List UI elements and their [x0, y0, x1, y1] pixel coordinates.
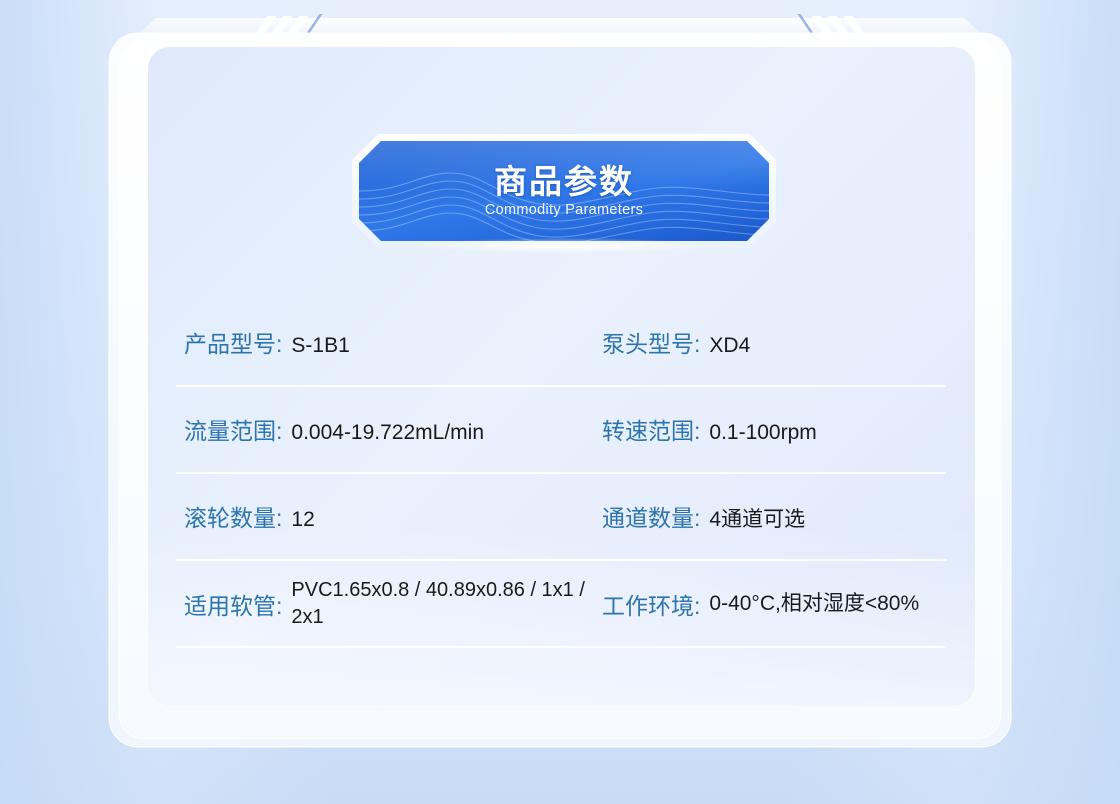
spec-value: 0.1-100rpm: [709, 419, 816, 447]
table-row: 产品型号: S-1B1 泵头型号: XD4: [176, 300, 946, 387]
banner-body: 商品参数 Commodity Parameters: [359, 141, 769, 241]
spec-label: 转速范围:: [602, 412, 700, 446]
spec-label: 泵头型号:: [602, 325, 700, 359]
spec-item-roller-count: 滚轮数量: 12: [176, 499, 602, 534]
spec-item-applicable-tubing: 适用软管: PVC1.65x0.8 / 40.89x0.86 / 1x1 / 2…: [176, 577, 602, 630]
table-row: 流量范围: 0.004-19.722mL/min 转速范围: 0.1-100rp…: [176, 387, 946, 474]
section-header-banner: 商品参数 Commodity Parameters: [352, 134, 776, 248]
banner-underglow: [414, 238, 714, 254]
spec-label: 滚轮数量:: [184, 499, 282, 533]
spec-value: 0-40°C,相对湿度<80%: [709, 590, 919, 618]
specifications-table: 产品型号: S-1B1 泵头型号: XD4 流量范围: 0.004-19.722…: [176, 300, 946, 648]
spec-label: 流量范围:: [184, 412, 282, 446]
spec-label: 通道数量:: [602, 499, 700, 533]
spec-item-working-environment: 工作环境: 0-40°C,相对湿度<80%: [602, 587, 954, 621]
spec-item-flow-range: 流量范围: 0.004-19.722mL/min: [176, 412, 602, 447]
product-parameters-page: 商品参数 Commodity Parameters 产品型号: S-1B1 泵头…: [0, 0, 1120, 804]
spec-label: 产品型号:: [184, 325, 282, 359]
spec-value: S-1B1: [291, 332, 349, 360]
spec-item-product-model: 产品型号: S-1B1: [176, 325, 602, 360]
spec-value: 12: [291, 506, 314, 534]
spec-label: 适用软管:: [184, 587, 282, 621]
spec-value: 0.004-19.722mL/min: [291, 419, 484, 447]
spec-item-pump-head-model: 泵头型号: XD4: [602, 325, 954, 360]
banner-title: 商品参数: [494, 164, 634, 200]
table-row: 滚轮数量: 12 通道数量: 4通道可选: [176, 474, 946, 561]
spec-value: PVC1.65x0.8 / 40.89x0.86 / 1x1 / 2x1: [291, 577, 602, 630]
spec-item-channel-count: 通道数量: 4通道可选: [602, 499, 954, 534]
spec-value: 4通道可选: [709, 506, 805, 534]
banner-text-group: 商品参数 Commodity Parameters: [359, 141, 769, 241]
spec-label: 工作环境:: [602, 587, 700, 621]
banner-subtitle: Commodity Parameters: [485, 202, 643, 218]
spec-value: XD4: [709, 332, 750, 360]
spec-item-speed-range: 转速范围: 0.1-100rpm: [602, 412, 954, 447]
table-row: 适用软管: PVC1.65x0.8 / 40.89x0.86 / 1x1 / 2…: [176, 561, 946, 648]
